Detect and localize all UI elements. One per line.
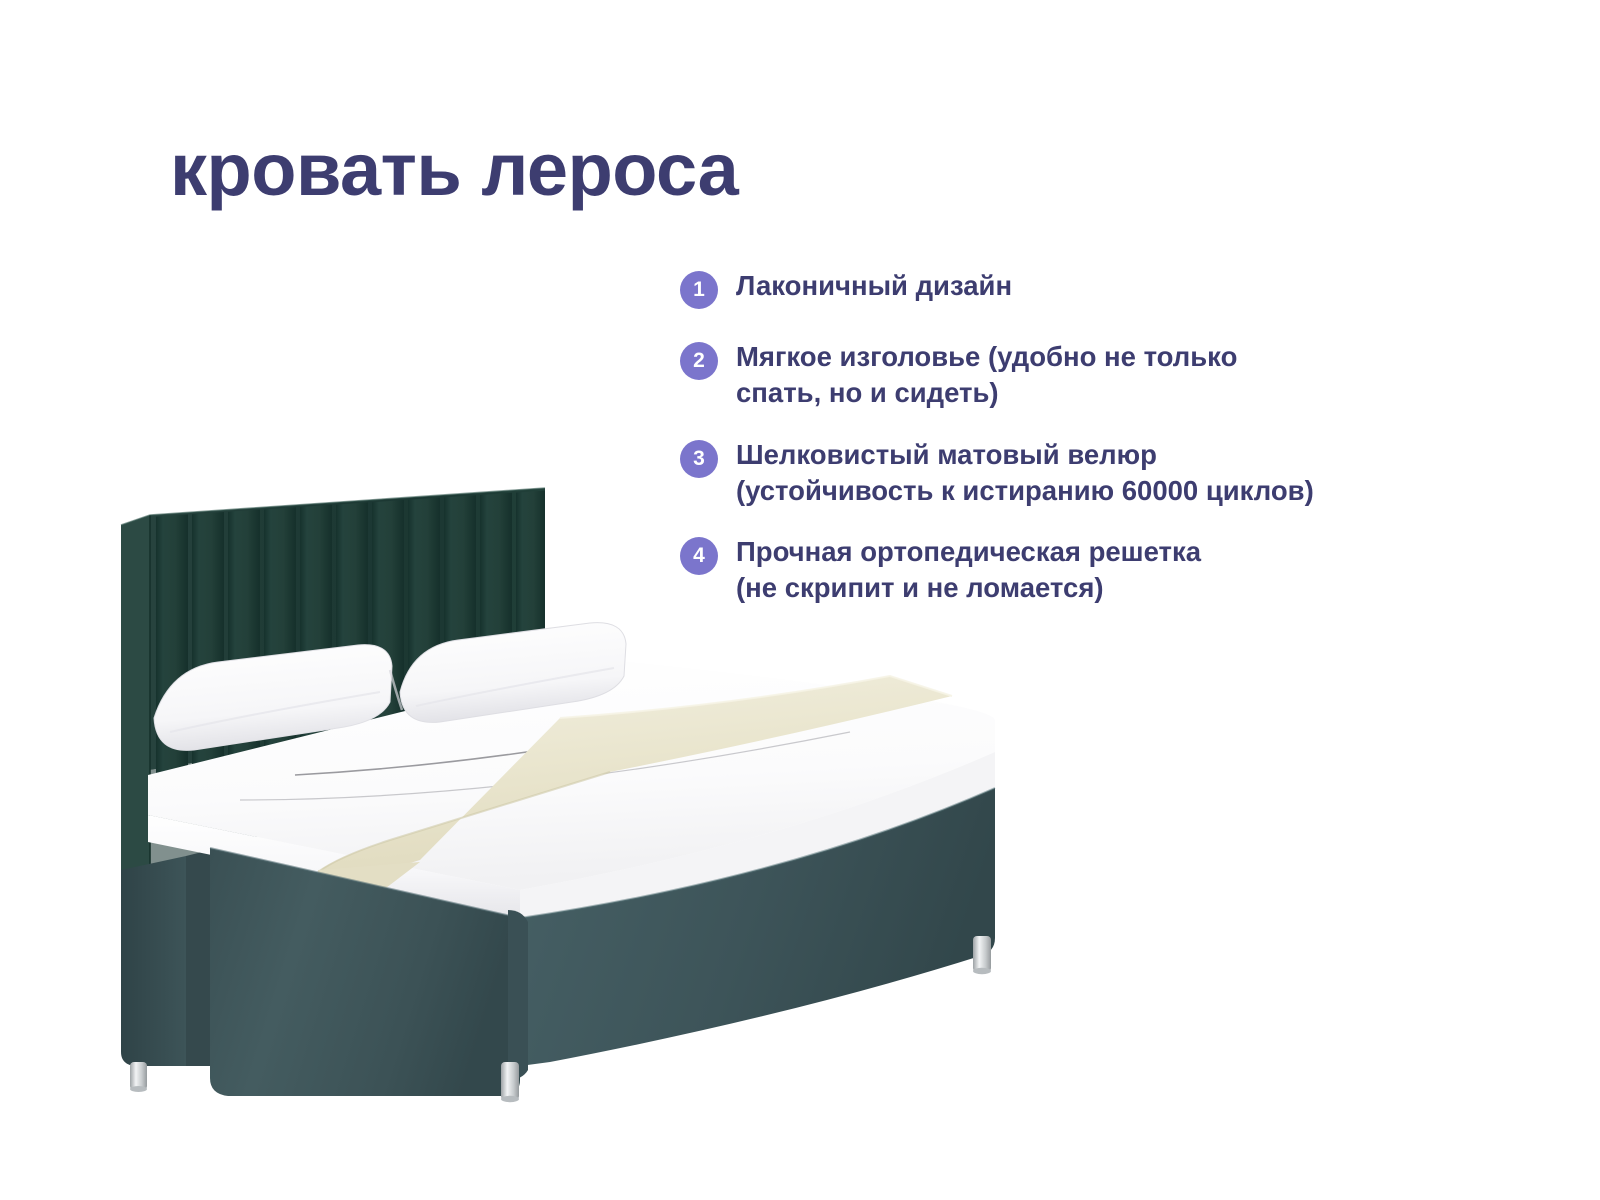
feature-line: Мягкое изголовье (удобно не только	[736, 339, 1237, 375]
product-image-bed	[90, 470, 1080, 1120]
bed-leg-back-left	[130, 1062, 147, 1092]
feature-line: спать, но и сидеть)	[736, 375, 1237, 411]
feature-badge-2: 2	[680, 342, 718, 380]
bed-base-left	[121, 850, 210, 1066]
list-item: 1 Лаконичный дизайн	[680, 268, 1500, 309]
poster-canvas: кровать лероса 1 Лаконичный дизайн 2 Мяг…	[0, 0, 1600, 1200]
bed-illustration	[90, 470, 1080, 1120]
list-item: 2 Мягкое изголовье (удобно не только спа…	[680, 339, 1500, 412]
bed-leg-front-right	[973, 936, 991, 974]
bed-leg-front-left	[501, 1062, 519, 1102]
feature-text-2: Мягкое изголовье (удобно не только спать…	[736, 339, 1237, 412]
feature-text-1: Лаконичный дизайн	[736, 268, 1012, 304]
feature-badge-1: 1	[680, 271, 718, 309]
feature-line: Лаконичный дизайн	[736, 268, 1012, 304]
page-title: кровать лероса	[170, 133, 738, 207]
feature-line: Шелковистый матовый велюр	[736, 437, 1314, 473]
